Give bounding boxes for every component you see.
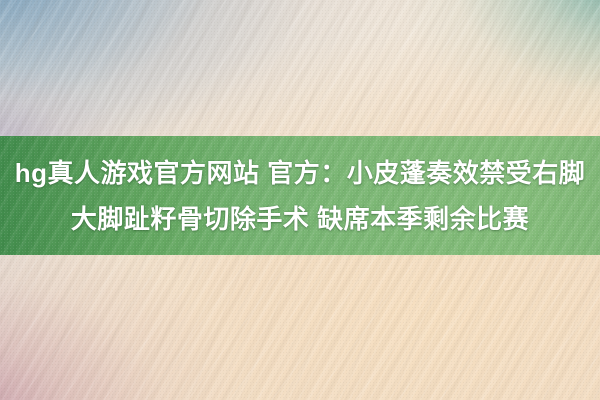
- headline-band-content: hg真人游戏官方网站 官方：小皮蓬奏效禁受右脚 大脚趾籽骨切除手术 缺席本季剩余…: [0, 136, 600, 255]
- headline-line-1: hg真人游戏官方网站 官方：小皮蓬奏效禁受右脚: [15, 151, 586, 195]
- headline-band: hg真人游戏官方网站 官方：小皮蓬奏效禁受右脚 大脚趾籽骨切除手术 缺席本季剩余…: [0, 136, 600, 255]
- banner-image: hg真人游戏官方网站 官方：小皮蓬奏效禁受右脚 大脚趾籽骨切除手术 缺席本季剩余…: [0, 0, 600, 400]
- headline-line-2: 大脚趾籽骨切除手术 缺席本季剩余比赛: [71, 197, 529, 241]
